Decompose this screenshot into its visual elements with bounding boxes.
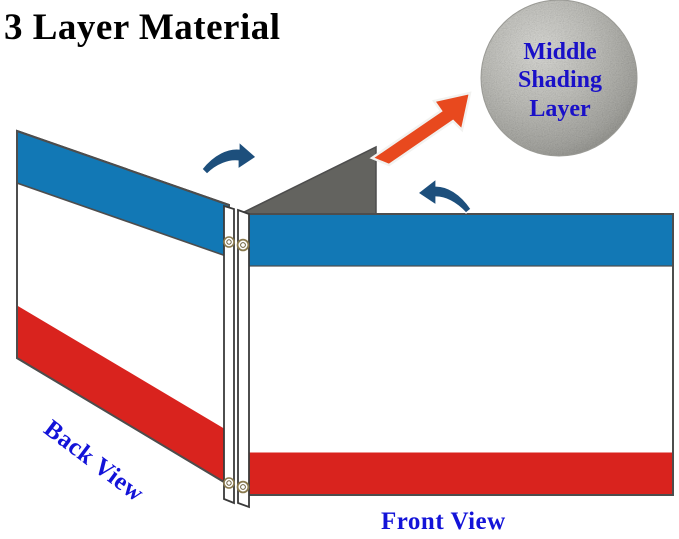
callout-line-1: Middle	[484, 38, 636, 66]
shading-layer-callout-label: Middle Shading Layer	[484, 38, 636, 123]
middle-shading-layer	[238, 147, 376, 215]
grommet-bottom-back	[224, 478, 234, 488]
front-view-panel	[247, 214, 673, 495]
grommet-top-front	[238, 240, 249, 251]
sleeve-strip-front	[238, 210, 249, 507]
orange-arrow-icon	[372, 93, 470, 165]
sleeve-strip-back	[224, 206, 234, 503]
curved-arrow-right-icon	[202, 142, 256, 174]
grommet-top-back	[224, 237, 234, 247]
shading-layer-triangle	[238, 147, 376, 215]
front-panel-red-band	[247, 453, 673, 495]
illustration-canvas: 3 Layer Material	[0, 0, 679, 539]
callout-line-2: Shading	[484, 66, 636, 94]
front-panel-blue-band	[247, 214, 673, 266]
grommet-bottom-front	[238, 482, 249, 493]
header-sleeve	[224, 206, 249, 507]
front-view-label: Front View	[381, 508, 506, 536]
curved-arrow-left-icon	[418, 179, 471, 213]
callout-line-3: Layer	[484, 95, 636, 123]
